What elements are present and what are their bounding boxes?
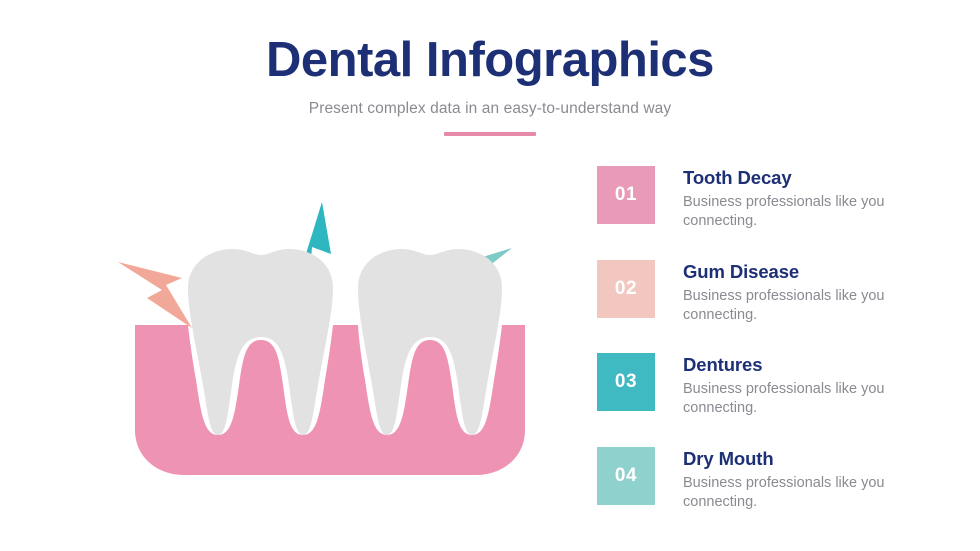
item-title: Dry Mouth [683,448,893,469]
item-title: Gum Disease [683,261,893,282]
pain-bolt-left-icon [118,262,192,328]
page-title: Dental Infographics [0,34,980,88]
list-item[interactable]: 04 Dry Mouth Business professionals like… [597,447,927,513]
item-title: Dentures [683,354,893,375]
item-description: Business professionals like you connecti… [683,193,893,231]
item-number: 04 [615,465,637,487]
item-title: Tooth Decay [683,167,893,188]
item-badge-04: 04 [597,447,655,505]
item-text-block: Gum Disease Business professionals like … [683,260,893,326]
item-number: 01 [615,184,637,206]
item-badge-01: 01 [597,166,655,224]
item-number: 02 [615,278,637,300]
teeth-illustration-svg [100,185,560,495]
item-description: Business professionals like you connecti… [683,380,893,418]
infographic-item-list: 01 Tooth Decay Business professionals li… [597,166,927,512]
page-subtitle: Present complex data in an easy-to-under… [0,100,980,118]
slide-canvas: Dental Infographics Present complex data… [0,0,980,551]
list-item[interactable]: 03 Dentures Business professionals like … [597,353,927,419]
list-item[interactable]: 01 Tooth Decay Business professionals li… [597,166,927,232]
item-text-block: Dentures Business professionals like you… [683,353,893,419]
item-description: Business professionals like you connecti… [683,474,893,512]
list-item[interactable]: 02 Gum Disease Business professionals li… [597,260,927,326]
item-text-block: Dry Mouth Business professionals like yo… [683,447,893,513]
item-badge-02: 02 [597,260,655,318]
item-number: 03 [615,371,637,393]
dental-illustration [100,185,560,495]
title-accent-rule [444,132,536,136]
item-description: Business professionals like you connecti… [683,287,893,325]
slide-header: Dental Infographics Present complex data… [0,34,980,136]
item-text-block: Tooth Decay Business professionals like … [683,166,893,232]
item-badge-03: 03 [597,353,655,411]
